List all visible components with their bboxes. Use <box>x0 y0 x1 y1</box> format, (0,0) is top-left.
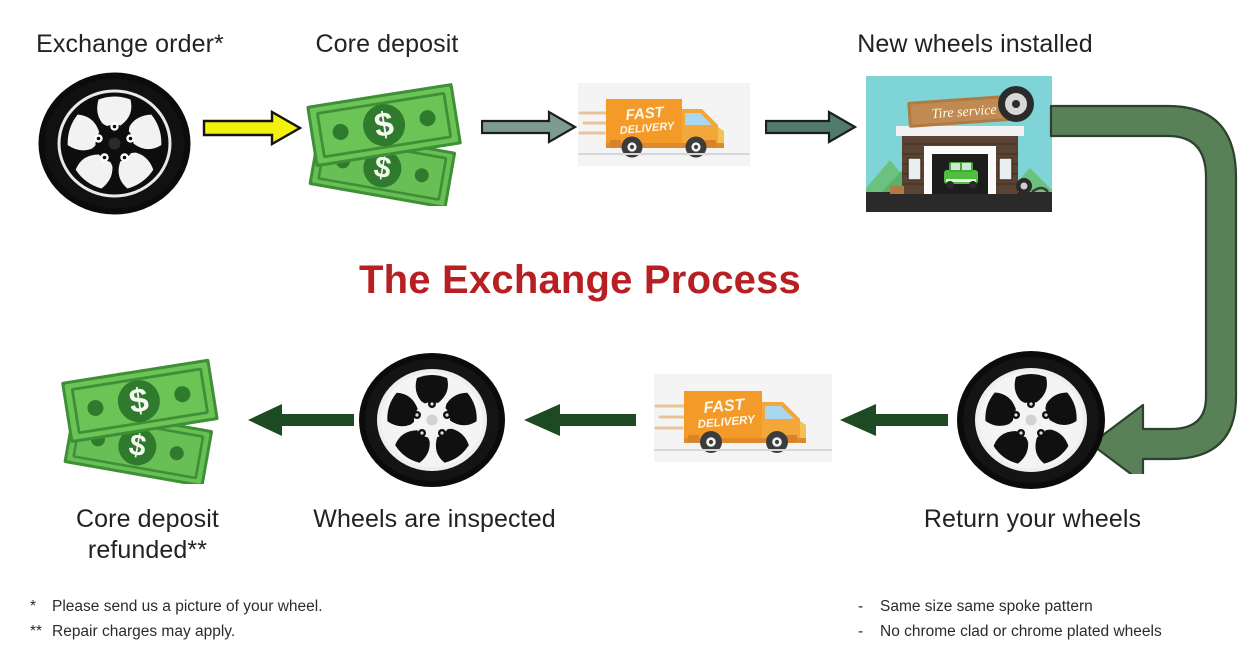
delivery-truck-icon-return: FAST DELIVERY <box>654 374 832 462</box>
tire-service-shop-icon: Tire service <box>866 76 1052 212</box>
delivery-truck-icon-outbound: FAST DELIVERY <box>578 83 750 166</box>
arrow-return-to-truck <box>838 402 950 438</box>
step-label-core-deposit: Core deposit <box>272 29 502 60</box>
step-label-exchange-order: Exchange order* <box>0 29 260 60</box>
arrow-order-to-deposit <box>202 110 302 146</box>
footnote-marker: ** <box>30 619 52 644</box>
footnote-right-2: -No chrome clad or chrome plated wheels <box>858 619 1250 644</box>
wheel-dark-icon <box>38 72 191 215</box>
step-label-return-your-wheels: Return your wheels <box>890 504 1175 535</box>
step-label-new-wheels-installed: New wheels installed <box>790 29 1160 60</box>
footnote-marker: - <box>858 619 880 644</box>
cash-icon-deposit: $ $ <box>305 76 480 206</box>
footnote-marker: * <box>30 594 52 619</box>
footnote-text: Please send us a picture of your wheel. <box>52 598 323 615</box>
footnote-text: Same size same spoke pattern <box>880 598 1093 615</box>
arrow-truck-to-shop <box>765 110 857 144</box>
arrow-inspect-to-refund <box>246 402 356 438</box>
step-label-wheels-inspected: Wheels are inspected <box>292 504 577 535</box>
footnote-text: Repair charges may apply. <box>52 623 235 640</box>
wheel-silver-icon-inspected <box>358 352 506 488</box>
refund-label-line2: refunded** <box>88 536 207 564</box>
step-label-core-deposit-refunded: Core deposit refunded** <box>30 504 265 566</box>
footnote-marker: - <box>858 594 880 619</box>
cash-icon-refund: $ $ <box>58 352 238 484</box>
exchange-process-diagram: Exchange order* Core deposit New wheels … <box>0 0 1250 666</box>
footnote-text: No chrome clad or chrome plated wheels <box>880 623 1162 640</box>
footnotes-left: *Please send us a picture of your wheel.… <box>30 594 450 644</box>
page-title: The Exchange Process <box>300 258 860 303</box>
refund-label-line1: Core deposit <box>76 505 219 533</box>
footnote-left-2: **Repair charges may apply. <box>30 619 450 644</box>
arrow-deposit-to-truck <box>481 110 577 144</box>
arrow-truck-to-inspect <box>522 402 638 438</box>
footnotes-right: -Same size same spoke pattern -No chrome… <box>858 594 1250 644</box>
footnote-right-1: -Same size same spoke pattern <box>858 594 1250 619</box>
wheel-silver-icon-return <box>956 350 1106 490</box>
footnote-left-1: *Please send us a picture of your wheel. <box>30 594 450 619</box>
